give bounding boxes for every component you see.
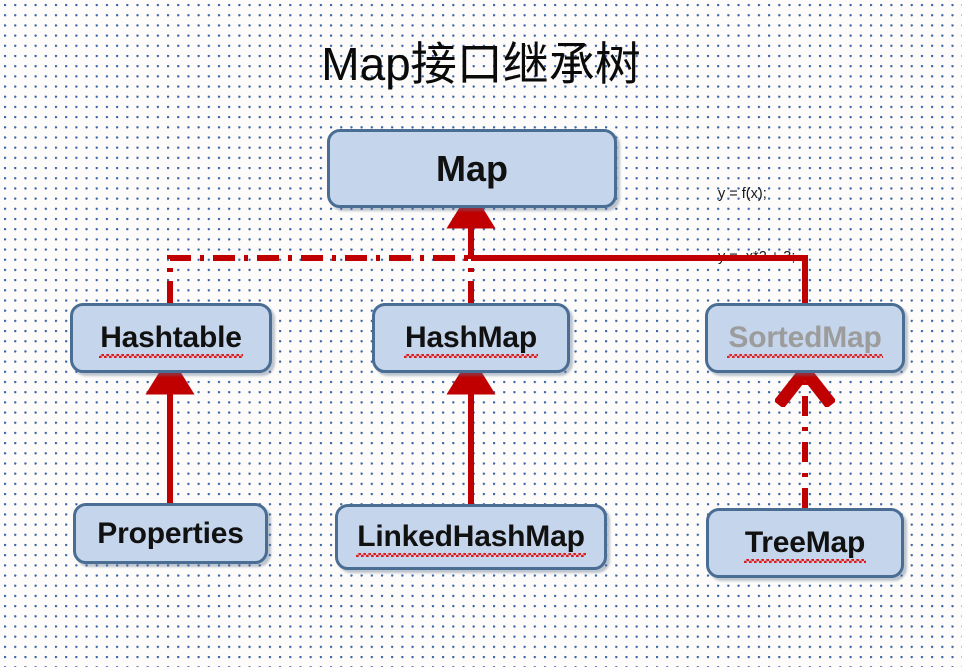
formula-line-1: y = f(x); [718, 184, 795, 205]
node-hashtable[interactable]: Hashtable [70, 303, 272, 373]
node-map[interactable]: Map [327, 129, 617, 208]
node-properties[interactable]: Properties [73, 503, 268, 564]
edge-hashtable-to-map [170, 258, 471, 303]
formula-annotation: y = f(x); y = x*2 + 3; [718, 142, 795, 310]
node-treemap[interactable]: TreeMap [706, 508, 904, 578]
node-hashmap-label: HashMap [405, 321, 537, 355]
page-title: Map接口继承树 [0, 36, 962, 92]
node-linkedhashmap[interactable]: LinkedHashMap [335, 504, 607, 570]
node-sortedmap-label: SortedMap [728, 321, 881, 355]
node-sortedmap[interactable]: SortedMap [705, 303, 905, 373]
node-hashmap[interactable]: HashMap [372, 303, 570, 373]
node-properties-label: Properties [97, 517, 243, 551]
node-linkedhashmap-label: LinkedHashMap [357, 520, 584, 554]
node-treemap-label: TreeMap [745, 526, 865, 560]
node-hashtable-label: Hashtable [100, 321, 242, 355]
node-map-label: Map [436, 148, 508, 190]
formula-line-2: y = x*2 + 3; [718, 247, 795, 268]
diagram-canvas: Map接口继承树 y = f(x); y = x*2 + 3; [0, 0, 962, 667]
